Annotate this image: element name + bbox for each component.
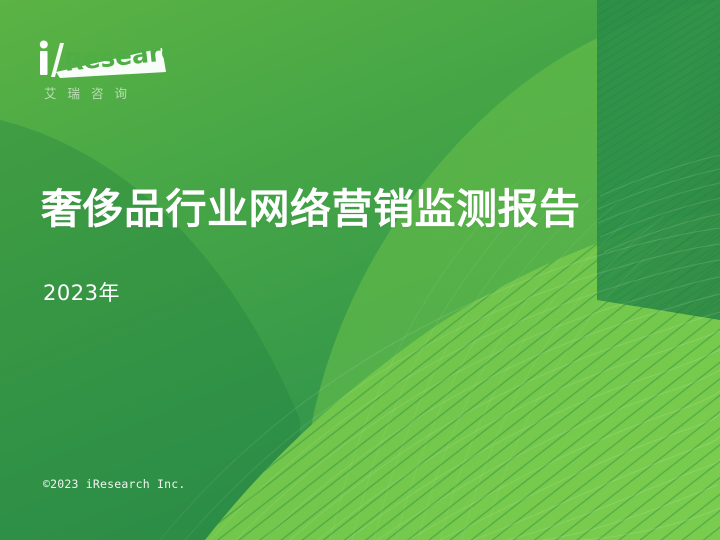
- cover-content: Research 艾瑞咨询 奢侈品行业网络营销监测报告 2023年 ©2023 …: [0, 0, 720, 540]
- iresearch-logo-icon: Research: [38, 38, 170, 82]
- brand-logo-subtitle-cn: 艾瑞咨询: [44, 86, 238, 101]
- page-subtitle-year: 2023年: [43, 277, 120, 307]
- iresearch-logo-glyph: Research: [38, 38, 170, 82]
- page-title: 奢侈品行业网络营销监测报告: [41, 186, 581, 233]
- brand-logo: Research 艾瑞咨询: [38, 38, 238, 114]
- report-cover-slide: Research 艾瑞咨询 奢侈品行业网络营销监测报告 2023年 ©2023 …: [0, 0, 720, 540]
- copyright-footer: ©2023 iResearch Inc.: [43, 477, 185, 491]
